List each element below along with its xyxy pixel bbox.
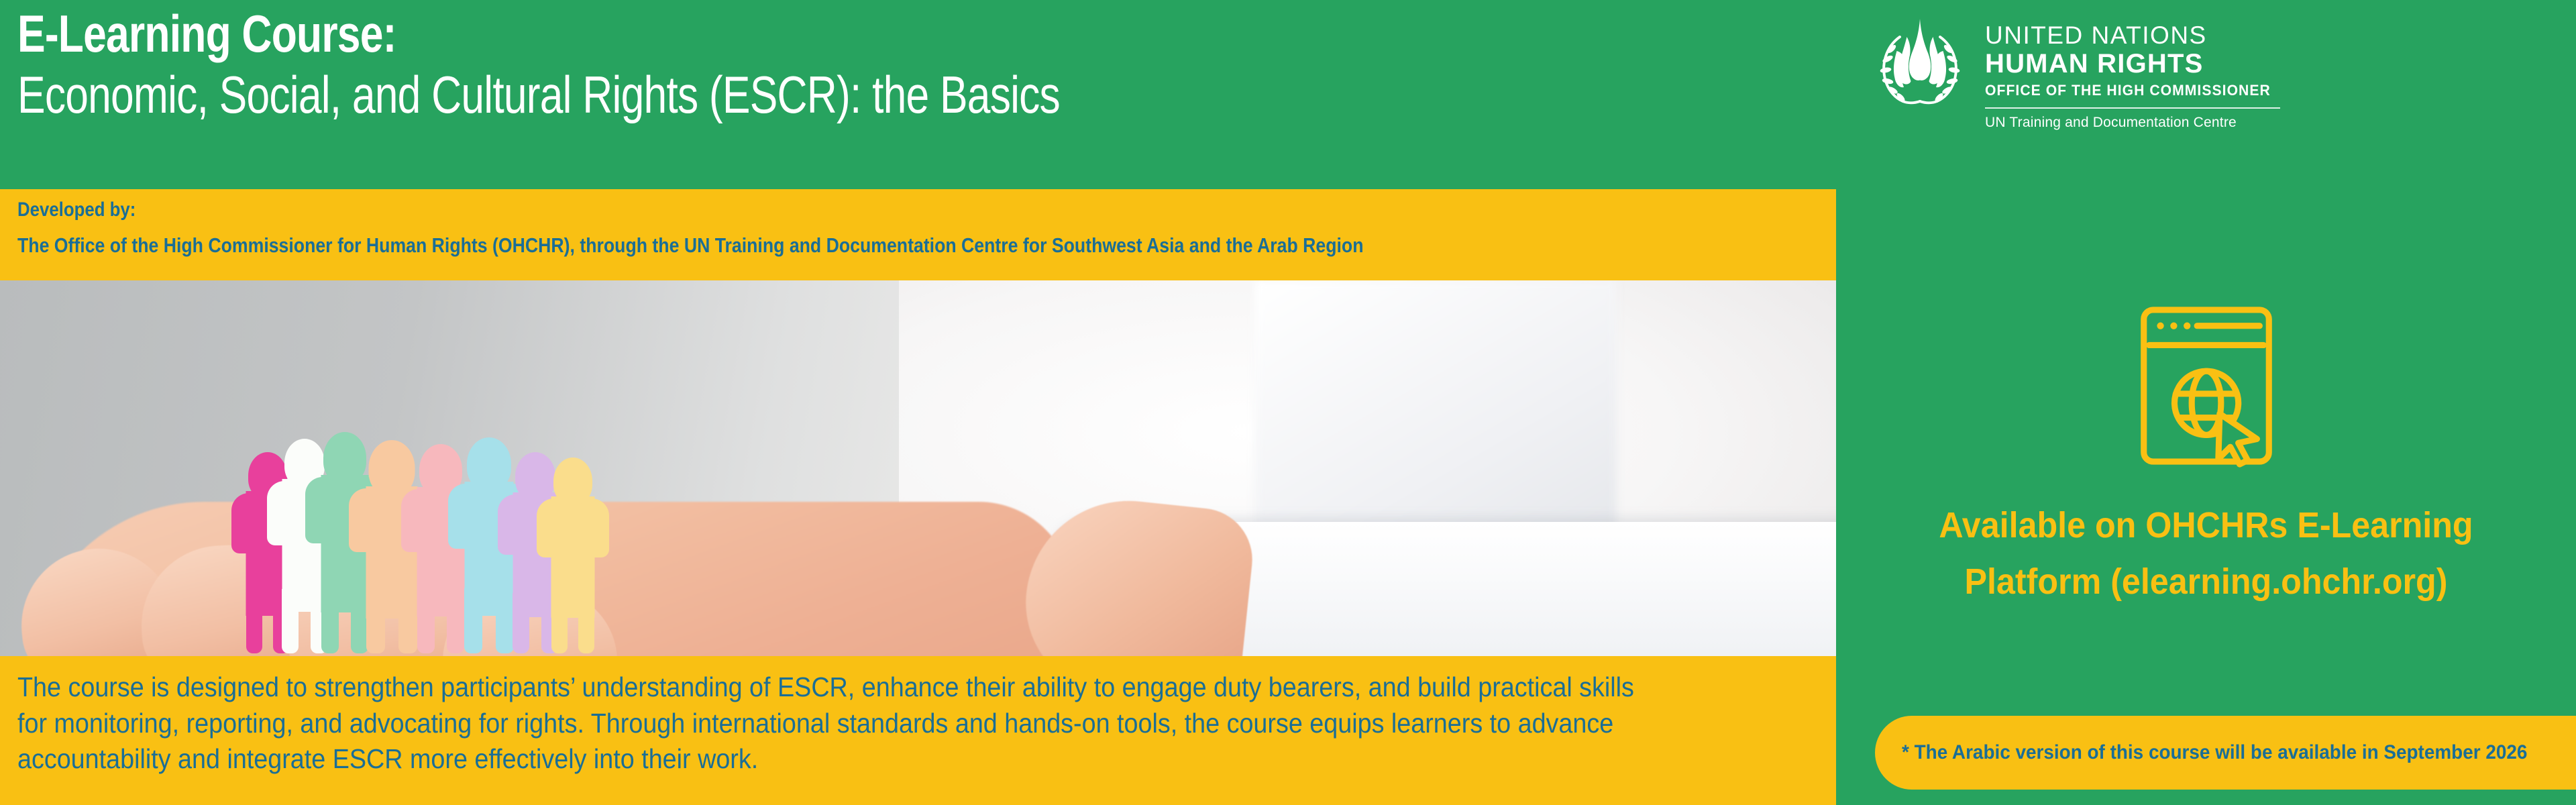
paper-doll-head bbox=[553, 458, 592, 504]
paper-doll-leg bbox=[551, 594, 568, 653]
availability-headline: Available on OHCHRs E-Learning Platform … bbox=[1862, 498, 2551, 610]
paper-doll-leg bbox=[321, 587, 339, 653]
ohchr-logo-lockup: UNITED NATIONS HUMAN RIGHTS OFFICE OF TH… bbox=[1870, 15, 2283, 131]
developed-by-text: The Office of the High Commissioner for … bbox=[17, 233, 1363, 258]
paper-doll-leg bbox=[464, 588, 482, 653]
availability-line-1: Available on OHCHRs E-Learning bbox=[1862, 498, 2551, 554]
logo-line-human-rights: HUMAN RIGHTS bbox=[1985, 49, 2283, 79]
developed-by-label: Developed by: bbox=[17, 199, 136, 221]
arabic-version-note: * The Arabic version of this course will… bbox=[1902, 716, 2527, 790]
browser-globe-cursor-icon bbox=[2134, 302, 2279, 470]
paper-doll-leg bbox=[578, 594, 594, 653]
availability-line-2: Platform (elearning.ohchr.org) bbox=[1862, 554, 2551, 610]
escr-course-promo-banner: E-Learning Course: Economic, Social, and… bbox=[0, 0, 2576, 805]
logo-line-office-high-commissioner: OFFICE OF THE HIGH COMMISSIONER bbox=[1985, 79, 2271, 101]
right-column: UNITED NATIONS HUMAN RIGHTS OFFICE OF TH… bbox=[1836, 0, 2576, 805]
paper-doll-leg bbox=[417, 590, 435, 653]
logo-line-united-nations: UNITED NATIONS bbox=[1985, 21, 2283, 49]
paper-doll-leg bbox=[366, 590, 385, 653]
developed-by-band: Developed by: The Office of the High Com… bbox=[0, 189, 1836, 280]
course-description: The course is designed to strengthen par… bbox=[17, 669, 1662, 777]
paper-doll-leg bbox=[282, 589, 299, 653]
un-human-rights-emblem-icon bbox=[1870, 15, 1970, 115]
logo-divider bbox=[1985, 107, 2280, 109]
arabic-version-badge: * The Arabic version of this course will… bbox=[1875, 716, 2576, 790]
paper-doll-leg bbox=[246, 593, 262, 653]
description-band: The course is designed to strengthen par… bbox=[0, 656, 1836, 805]
paper-people-photo bbox=[0, 280, 1836, 656]
left-column: Developed by: The Office of the High Com… bbox=[0, 0, 1836, 805]
paper-doll-leg bbox=[513, 593, 529, 653]
paper-doll bbox=[537, 458, 609, 653]
logo-line-training-centre: UN Training and Documentation Centre bbox=[1985, 115, 2283, 131]
photo-shirt-blur bbox=[1254, 280, 1617, 562]
logo-text-block: UNITED NATIONS HUMAN RIGHTS OFFICE OF TH… bbox=[1985, 15, 2283, 131]
